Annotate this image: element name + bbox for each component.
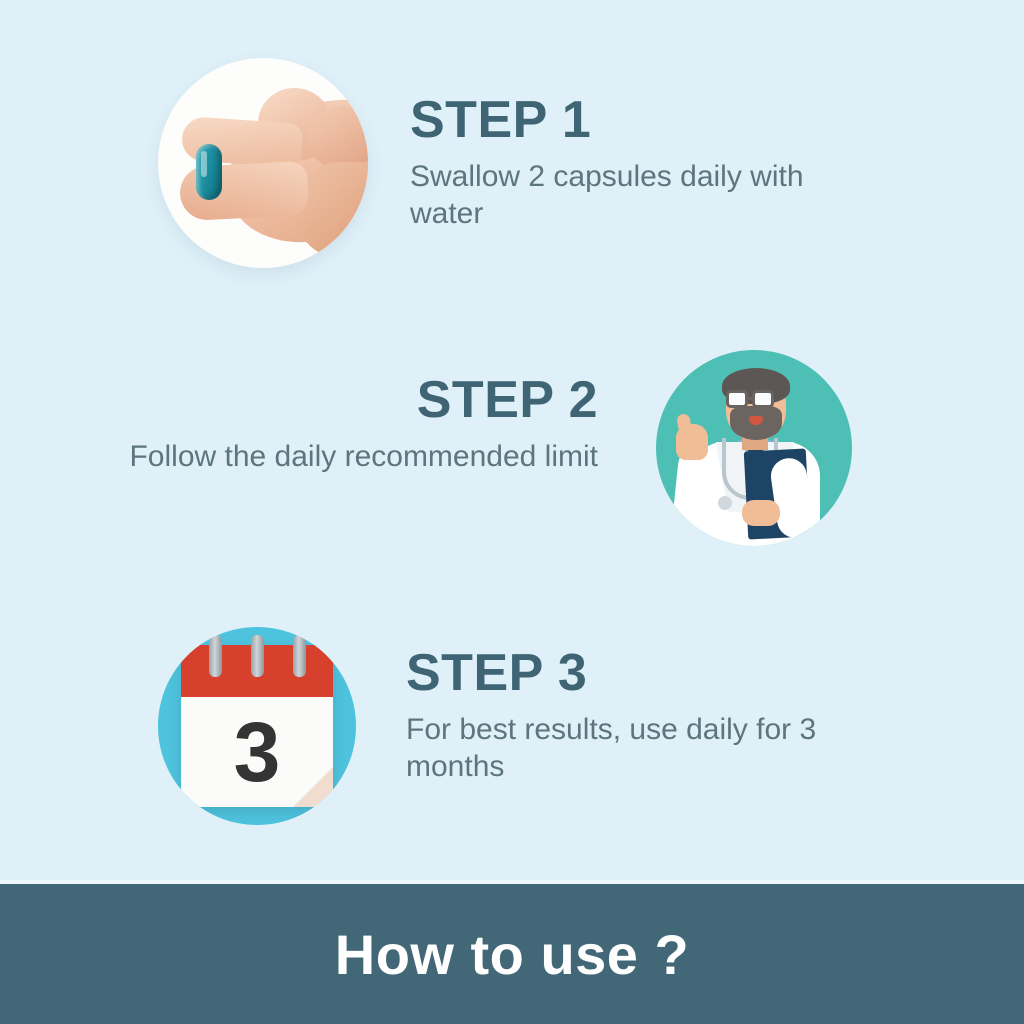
step-3-title: STEP 3: [406, 647, 856, 700]
calendar-ring-2: [251, 635, 264, 677]
glasses-bridge: [748, 397, 754, 400]
step-1-text-block: STEP 1 Swallow 2 capsules daily with wat…: [410, 94, 880, 232]
how-to-use-infographic: STEP 1 Swallow 2 capsules daily with wat…: [0, 0, 1024, 1024]
wrist-shape: [298, 162, 368, 258]
step-3-description: For best results, use daily for 3 months: [406, 712, 856, 785]
doctor-thumbs-up-illustration: [656, 350, 852, 546]
step-2-description: Follow the daily recommended limit: [108, 439, 598, 476]
step-2-text-block: STEP 2 Follow the daily recommended limi…: [108, 374, 598, 476]
footer-title: How to use ?: [335, 922, 689, 987]
stethoscope-bell: [718, 496, 732, 510]
hand-holding-capsule-photo: [158, 58, 368, 268]
calendar-ring-1: [209, 635, 222, 677]
step-2-title: STEP 2: [108, 374, 598, 427]
step-2-row: STEP 2 Follow the daily recommended limi…: [108, 350, 852, 546]
glasses-lens-right: [752, 390, 774, 408]
step-1-title: STEP 1: [410, 94, 880, 147]
calendar-page: 3: [181, 645, 333, 807]
capsule-highlight: [201, 151, 207, 177]
knuckle-shape-2: [308, 106, 368, 170]
step-3-text-block: STEP 3 For best results, use daily for 3…: [406, 647, 856, 785]
glasses-lens-left: [726, 390, 748, 408]
step-1-row: STEP 1 Swallow 2 capsules daily with wat…: [158, 58, 880, 268]
step-1-description: Swallow 2 capsules daily with water: [410, 159, 880, 232]
doctor-hand: [742, 500, 780, 526]
step-3-row: 3 STEP 3 For best results, use daily for…: [158, 627, 856, 825]
calendar-ring-3: [293, 635, 306, 677]
footer-banner: How to use ?: [0, 884, 1024, 1024]
capsule-icon: [196, 144, 222, 200]
calendar-day-3-icon: 3: [158, 627, 356, 825]
